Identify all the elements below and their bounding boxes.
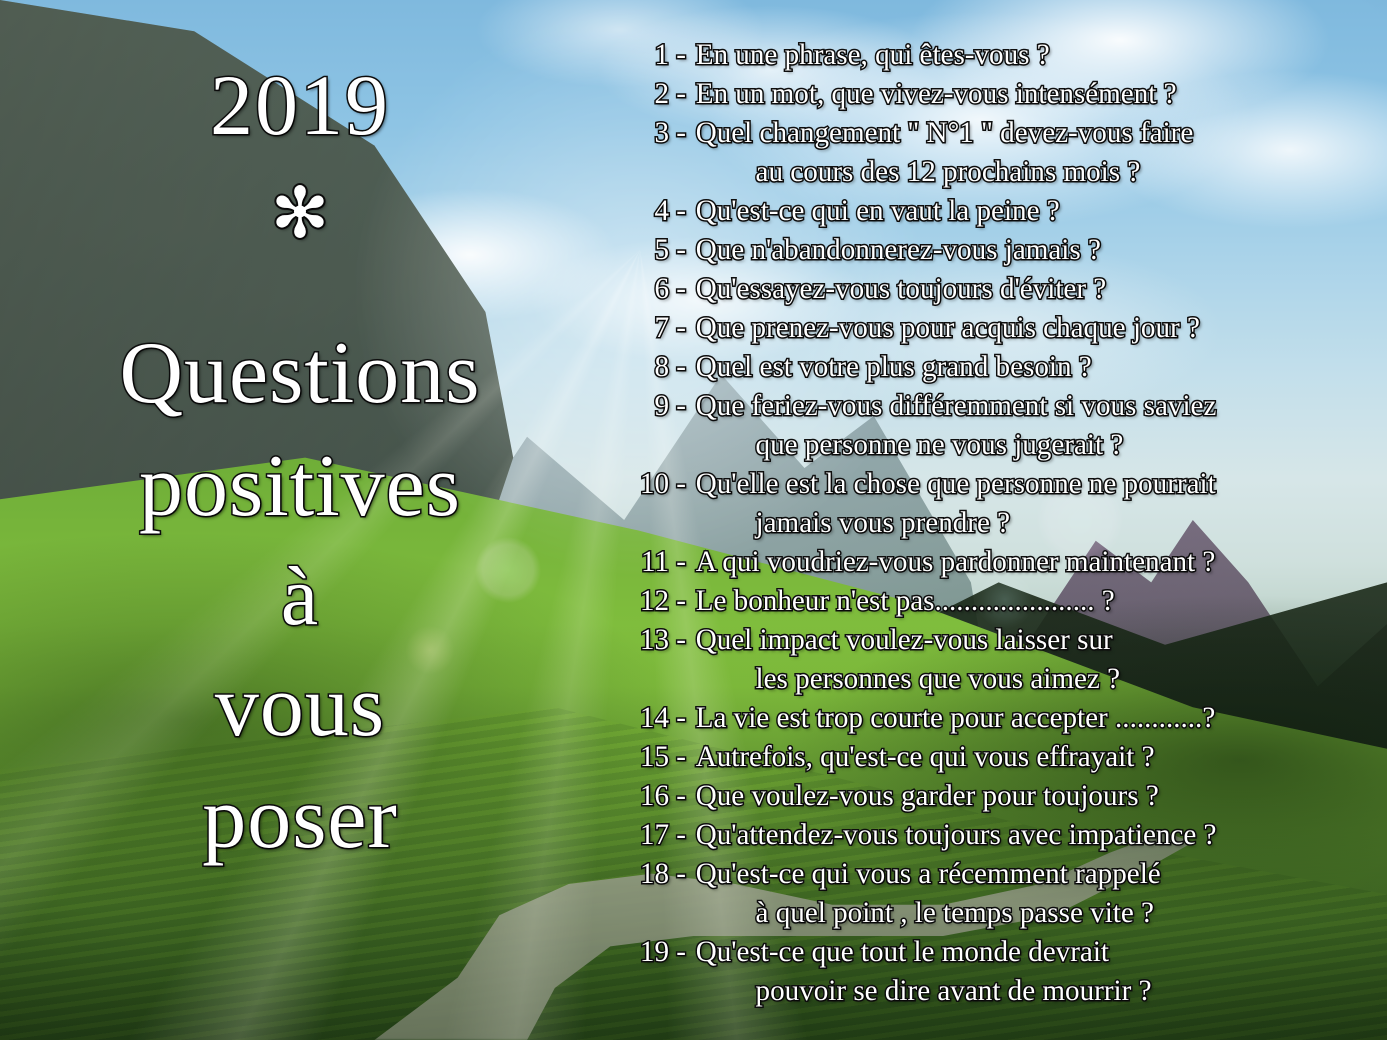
question-row: 17 -Qu'attendez-vous toujours avec impat… [612, 818, 1387, 857]
main-headline: Questions positives à vous poser [0, 318, 600, 876]
question-text: En une phrase, qui êtes-vous ? [686, 38, 1366, 72]
question-number: 9 - [614, 389, 686, 423]
question-number: 8 - [614, 350, 686, 384]
asterisk-flower-icon: ✻ [0, 178, 600, 248]
question-row: 14 -La vie est trop courte pour accepter… [612, 701, 1387, 740]
question-text-continuation: à quel point , le temps passe vite ? [612, 896, 1364, 935]
question-number: 6 - [614, 272, 686, 306]
year-heading: 2019 [0, 62, 600, 148]
question-number: 13 - [614, 623, 686, 657]
question-number: 11 - [614, 545, 686, 579]
question-number: 18 - [614, 857, 686, 891]
question-row: 3 -Quel changement " N°1 " devez-vous fa… [612, 116, 1387, 155]
question-number: 17 - [614, 818, 686, 852]
question-number: 5 - [614, 233, 686, 267]
question-row: 16 -Que voulez-vous garder pour toujours… [612, 779, 1387, 818]
question-number: 12 - [614, 584, 686, 618]
question-row: 11 -A qui voudriez-vous pardonner mainte… [612, 545, 1387, 584]
question-text: Le bonheur n'est pas....................… [686, 584, 1366, 618]
question-row: 8 -Quel est votre plus grand besoin ? [612, 350, 1387, 389]
question-number: 15 - [614, 740, 686, 774]
question-number: 3 - [614, 116, 686, 150]
title-column: 2019 ✻ Questions positives à vous poser [0, 0, 600, 1040]
question-text-continuation: au cours des 12 prochains mois ? [612, 155, 1364, 194]
question-text: En un mot, que vivez-vous intensément ? [686, 77, 1366, 111]
question-text: Que voulez-vous garder pour toujours ? [686, 779, 1366, 813]
question-number: 14 - [614, 701, 686, 735]
headline-line-1: Questions [0, 318, 600, 431]
question-row: 5 -Que n'abandonnerez-vous jamais ? [612, 233, 1387, 272]
question-number: 2 - [614, 77, 686, 111]
question-row: 18 -Qu'est-ce qui vous a récemment rappe… [612, 857, 1387, 896]
question-text: A qui voudriez-vous pardonner maintenant… [686, 545, 1366, 579]
question-row: 1 -En une phrase, qui êtes-vous ? [612, 38, 1387, 77]
question-row: 19 -Qu'est-ce que tout le monde devrait [612, 935, 1387, 974]
question-number: 7 - [614, 311, 686, 345]
headline-line-4: vous [0, 651, 600, 764]
question-text: Qu'est-ce que tout le monde devrait [686, 935, 1366, 969]
headline-line-2: positives [0, 431, 600, 544]
question-row: 15 -Autrefois, qu'est-ce qui vous effray… [612, 740, 1387, 779]
headline-line-3: à [0, 543, 600, 651]
question-row: 13 -Quel impact voulez-vous laisser sur [612, 623, 1387, 662]
question-row: 7 -Que prenez-vous pour acquis chaque jo… [612, 311, 1387, 350]
headline-line-5: poser [0, 763, 600, 876]
question-number: 16 - [614, 779, 686, 813]
question-row: 9 -Que feriez-vous différemment si vous … [612, 389, 1387, 428]
question-text: Quel est votre plus grand besoin ? [686, 350, 1366, 384]
question-text: Que prenez-vous pour acquis chaque jour … [686, 311, 1366, 345]
question-text: Quel impact voulez-vous laisser sur [686, 623, 1366, 657]
question-text: Qu'est-ce qui vous a récemment rappelé [686, 857, 1366, 891]
question-text: La vie est trop courte pour accepter ...… [686, 701, 1366, 735]
questions-list: 1 -En une phrase, qui êtes-vous ?2 -En u… [612, 38, 1387, 1013]
question-text: Qu'est-ce qui en vaut la peine ? [686, 194, 1366, 228]
question-number: 10 - [614, 467, 686, 501]
question-row: 12 -Le bonheur n'est pas................… [612, 584, 1387, 623]
question-row: 6 -Qu'essayez-vous toujours d'éviter ? [612, 272, 1387, 311]
question-text-continuation: pouvoir se dire avant de mourrir ? [612, 974, 1364, 1013]
question-text-continuation: que personne ne vous jugerait ? [612, 428, 1364, 467]
question-text-continuation: jamais vous prendre ? [612, 506, 1364, 545]
question-text: Qu'essayez-vous toujours d'éviter ? [686, 272, 1366, 306]
question-text: Autrefois, qu'est-ce qui vous effrayait … [686, 740, 1366, 774]
question-number: 1 - [614, 38, 686, 72]
question-row: 2 -En un mot, que vivez-vous intensément… [612, 77, 1387, 116]
question-text: Qu'elle est la chose que personne ne pou… [686, 467, 1366, 501]
question-text: Que n'abandonnerez-vous jamais ? [686, 233, 1366, 267]
question-text-continuation: les personnes que vous aimez ? [612, 662, 1364, 701]
question-text: Qu'attendez-vous toujours avec impatienc… [686, 818, 1366, 852]
question-row: 4 -Qu'est-ce qui en vaut la peine ? [612, 194, 1387, 233]
question-row: 10 -Qu'elle est la chose que personne ne… [612, 467, 1387, 506]
poster-canvas: 2019 ✻ Questions positives à vous poser … [0, 0, 1387, 1040]
question-number: 19 - [614, 935, 686, 969]
question-text: Quel changement " N°1 " devez-vous faire [686, 116, 1366, 150]
question-text: Que feriez-vous différemment si vous sav… [686, 389, 1366, 423]
question-number: 4 - [614, 194, 686, 228]
